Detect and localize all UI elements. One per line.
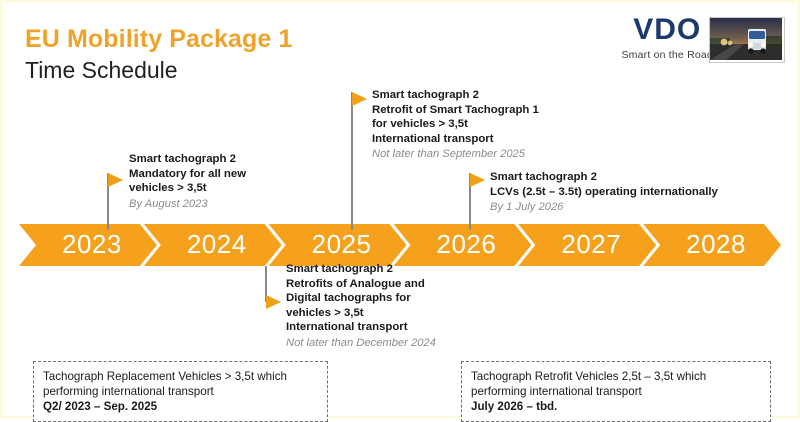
- footnote-period: Q2/ 2023 – Sep. 2025: [43, 399, 318, 414]
- timeline-year-label: 2025: [312, 229, 372, 260]
- vdo-logo: VDO Smart on the Road: [621, 15, 713, 61]
- callout-line: International transport: [372, 132, 539, 147]
- timeline-bar: 202320242025202620272028: [19, 224, 781, 266]
- callout-smart-tachograph-2-retrofit-of-smart-tachograph-1: Smart tachograph 2Retrofit of Smart Tach…: [372, 88, 539, 162]
- timeline-year-2024: 2024: [144, 224, 282, 266]
- timeline-year-2028: 2028: [643, 224, 781, 266]
- flag-marker-icon: [470, 173, 485, 187]
- timeline-year-label: 2027: [561, 229, 621, 260]
- callout-line: LCVs (2.5t – 3.5t) operating internation…: [490, 185, 718, 200]
- page-title: EU Mobility Package 1 Time Schedule: [25, 25, 292, 84]
- timeline-year-2026: 2026: [394, 224, 532, 266]
- flag-marker-icon: [108, 173, 123, 187]
- callout-line: Retrofit of Smart Tachograph 1: [372, 103, 539, 118]
- callout-line: Smart tachograph 2: [490, 170, 718, 185]
- callout-deadline-note: Not later than December 2024: [286, 336, 436, 351]
- callout-line: Digital tachographs for: [286, 291, 436, 306]
- timeline-year-label: 2026: [436, 229, 496, 260]
- callout-smart-tachograph-2-lcvs-international: Smart tachograph 2LCVs (2.5t – 3.5t) ope…: [490, 170, 718, 215]
- timeline-year-label: 2024: [187, 229, 247, 260]
- footnote-line: Tachograph Retrofit Vehicles 2,5t – 3,5t…: [471, 369, 761, 384]
- callout-smart-tachograph-2-retrofits-analogue-digital: Smart tachograph 2Retrofits of Analogue …: [286, 262, 436, 351]
- title-subtitle: Time Schedule: [25, 57, 292, 85]
- callout-deadline-note: Not later than September 2025: [372, 147, 539, 162]
- flag-pole: [351, 92, 353, 230]
- callout-line: Smart tachograph 2: [286, 262, 436, 277]
- callout-line: vehicles > 3,5t: [286, 306, 436, 321]
- vdo-wordmark: VDO: [621, 15, 713, 45]
- footnote-period: July 2026 – tbd.: [471, 399, 761, 414]
- timeline-year-2025: 2025: [269, 224, 407, 266]
- vdo-tagline: Smart on the Road: [621, 49, 713, 61]
- footnote-line: performing international transport: [471, 384, 761, 399]
- callout-deadline-note: By 1 July 2026: [490, 200, 718, 215]
- callout-deadline-note: By August 2023: [129, 197, 246, 212]
- timeline-year-label: 2028: [686, 229, 746, 260]
- callout-line: for vehicles > 3,5t: [372, 117, 539, 132]
- timeline-year-2023: 2023: [19, 224, 157, 266]
- title-main: EU Mobility Package 1: [25, 25, 292, 54]
- footnote-tachograph-replacement-vehicles: Tachograph Replacement Vehicles > 3,5t w…: [33, 361, 328, 422]
- footnote-line: Tachograph Replacement Vehicles > 3,5t w…: [43, 369, 318, 384]
- slide-canvas: EU Mobility Package 1 Time Schedule VDO …: [0, 0, 800, 419]
- truck-photo: [709, 17, 785, 63]
- footnote-tachograph-retrofit-vehicles: Tachograph Retrofit Vehicles 2,5t – 3,5t…: [461, 361, 771, 422]
- callout-smart-tachograph-2-mandatory-new-vehicles: Smart tachograph 2Mandatory for all newv…: [129, 152, 246, 211]
- timeline-year-label: 2023: [62, 229, 122, 260]
- footnote-line: performing international transport: [43, 384, 318, 399]
- timeline-year-2027: 2027: [518, 224, 656, 266]
- callout-line: Smart tachograph 2: [129, 152, 246, 167]
- flag-marker-icon: [266, 295, 281, 309]
- flag-marker-icon: [352, 92, 367, 106]
- callout-line: Mandatory for all new: [129, 167, 246, 182]
- callout-line: Retrofits of Analogue and: [286, 277, 436, 292]
- callout-line: Smart tachograph 2: [372, 88, 539, 103]
- callout-line: vehicles > 3,5t: [129, 181, 246, 196]
- callout-line: International transport: [286, 320, 436, 335]
